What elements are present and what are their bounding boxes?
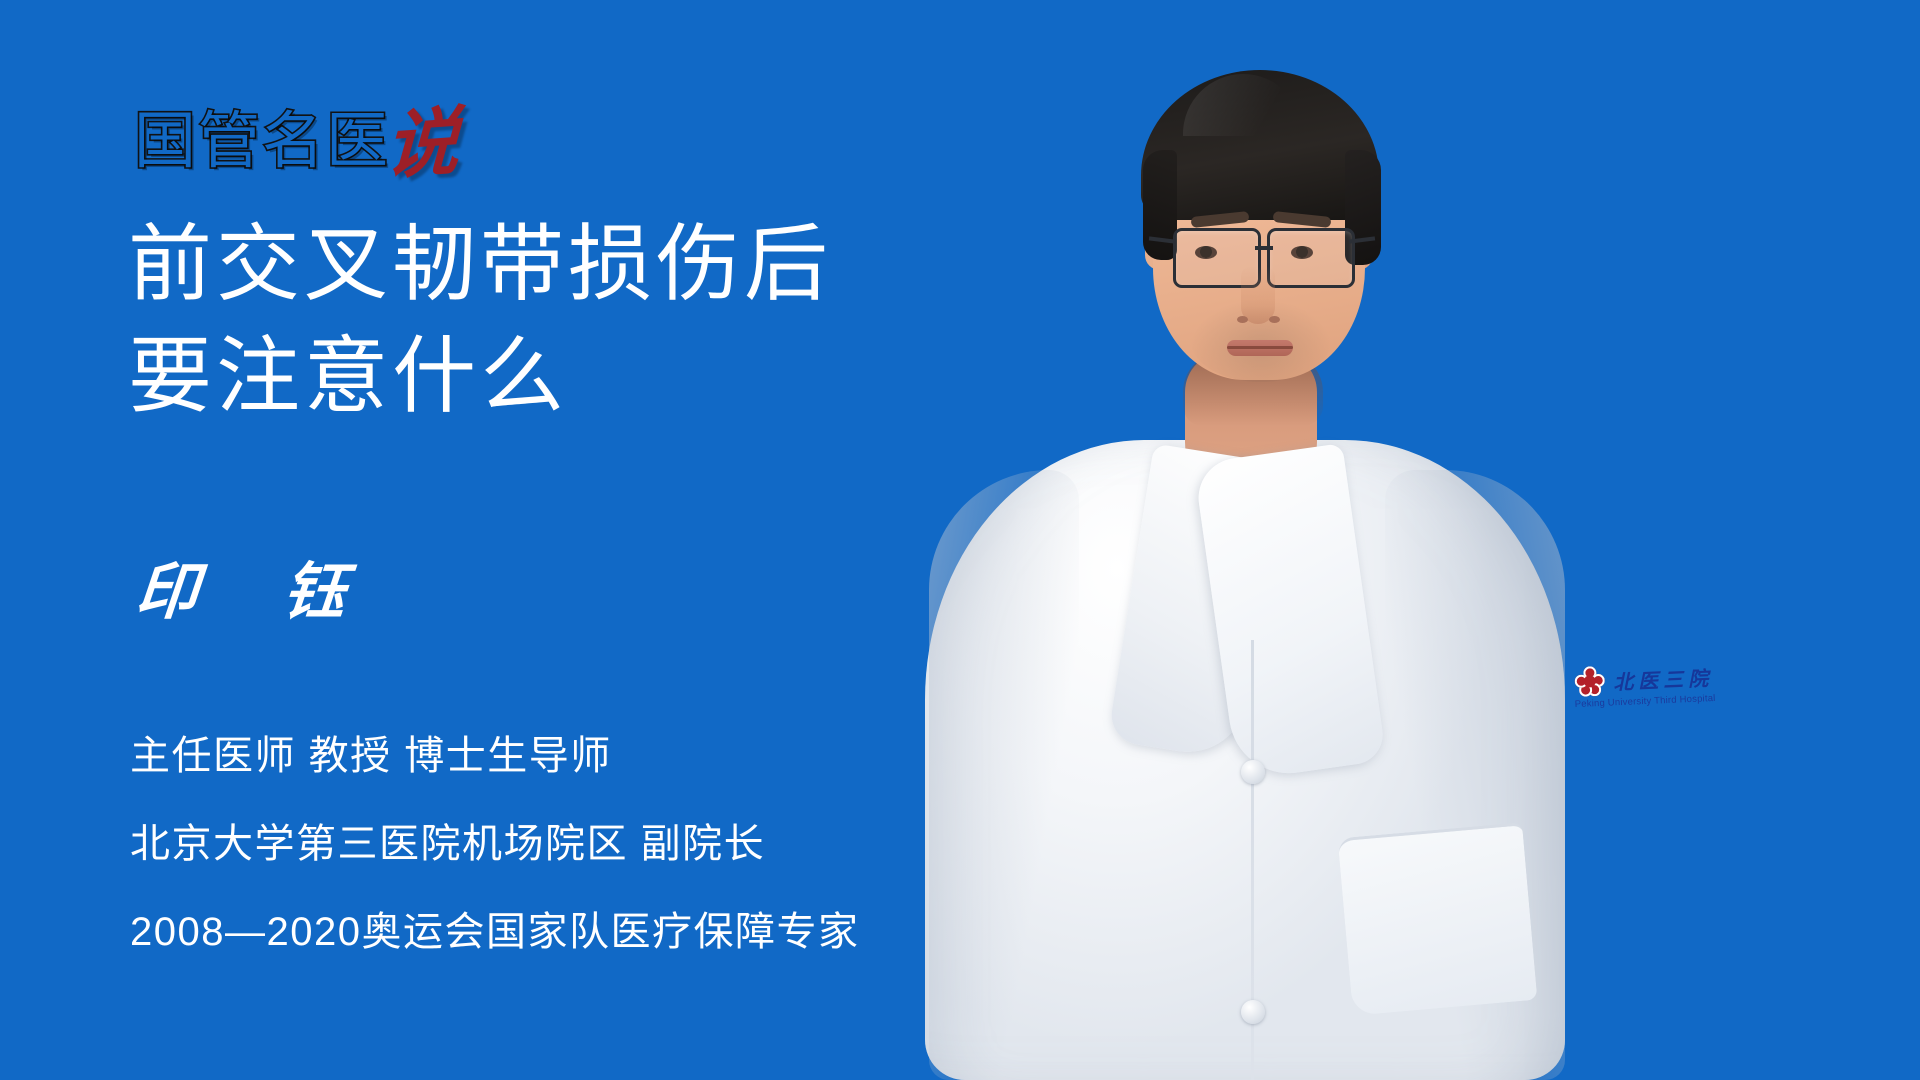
program-logo: 国管名医 说 bbox=[134, 92, 458, 174]
lab-coat-pocket bbox=[1338, 822, 1538, 1015]
headline-line-1: 前交叉韧带损伤后 bbox=[128, 208, 832, 320]
program-logo-accent-text: 说 bbox=[384, 109, 460, 180]
doctor-portrait bbox=[915, 0, 1635, 1080]
hospital-badge-chinese: 北医三院 bbox=[1613, 662, 1714, 695]
nostril-left bbox=[1237, 316, 1248, 323]
program-logo-main-text: 国管名医 bbox=[134, 108, 390, 174]
doctor-credentials: 主任医师 教授 博士生导师 北京大学第三医院机场院区 副院长 2008—2020… bbox=[130, 712, 859, 976]
credential-line-3: 2008—2020奥运会国家队医疗保障专家 bbox=[130, 888, 859, 976]
lab-coat-button-lower bbox=[1241, 1000, 1265, 1024]
glasses-bridge bbox=[1255, 246, 1273, 250]
doctor-name: 印 钰 bbox=[133, 556, 362, 628]
hospital-badge: 北医三院 Peking University Third Hospital bbox=[1573, 661, 1716, 710]
lab-coat-button-upper bbox=[1241, 760, 1265, 784]
credential-line-2: 北京大学第三医院机场院区 副院长 bbox=[130, 800, 859, 888]
nostril-right bbox=[1269, 316, 1280, 323]
mouth-line bbox=[1227, 346, 1293, 349]
glasses-lens-right bbox=[1267, 228, 1355, 288]
hair-side-left bbox=[1143, 150, 1177, 260]
video-cover-slide: 国管名医 说 前交叉韧带损伤后 要注意什么 印 钰 主任医师 教授 博士生导师 … bbox=[0, 0, 1920, 1080]
hospital-badge-row: 北医三院 bbox=[1575, 661, 1714, 697]
credential-line-1: 主任医师 教授 博士生导师 bbox=[130, 712, 859, 800]
plum-blossom-icon bbox=[1575, 666, 1606, 697]
headline: 前交叉韧带损伤后 要注意什么 bbox=[128, 208, 832, 432]
nose bbox=[1241, 266, 1275, 324]
lab-coat-shadow-left bbox=[929, 470, 1079, 1080]
headline-line-2: 要注意什么 bbox=[128, 320, 832, 432]
